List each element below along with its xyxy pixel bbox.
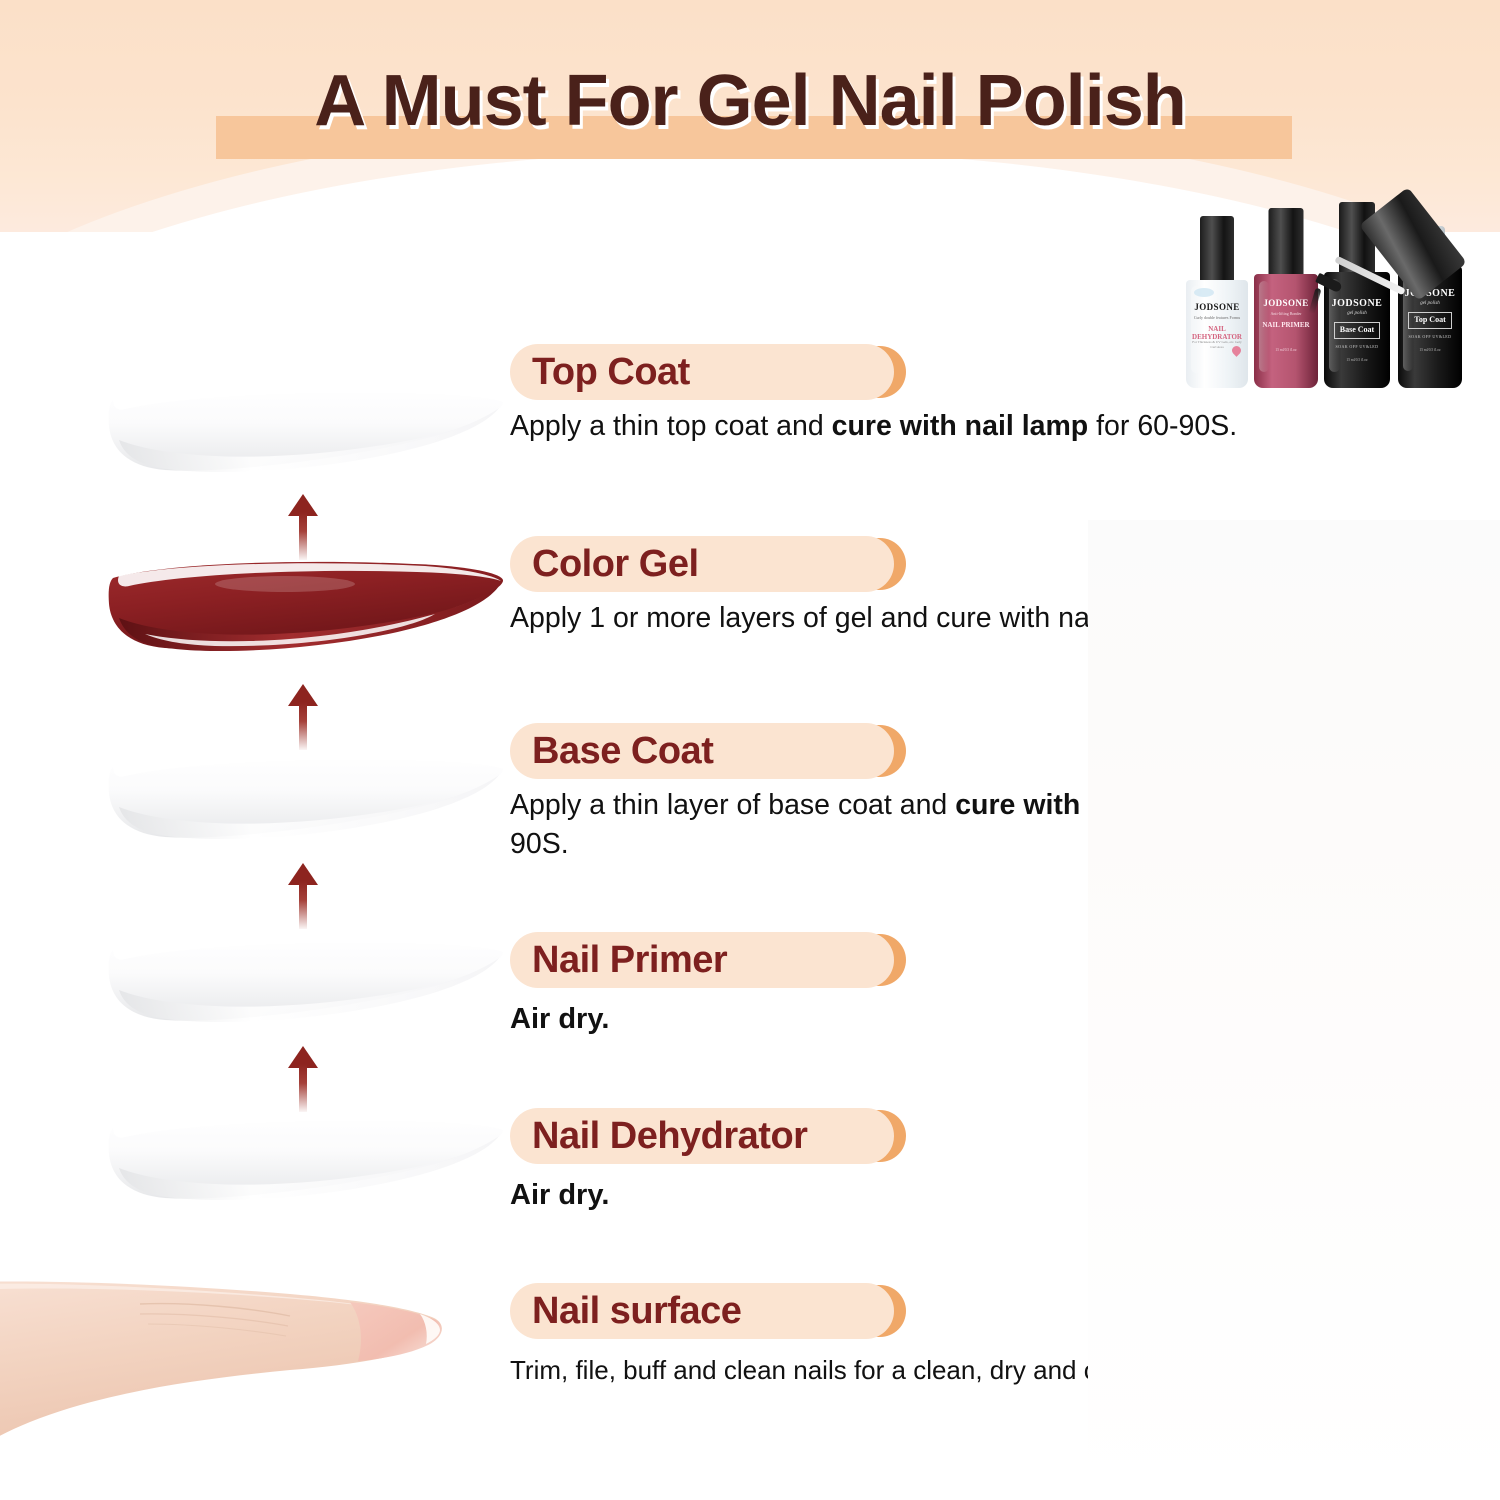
product-bottles-group: JODSONE Curly double features Formu NAIL… bbox=[1186, 196, 1500, 396]
bottle-fine2-3: SOAK OFF UV&LED bbox=[1324, 344, 1390, 349]
desc-part-1: Apply a thin layer of base coat and bbox=[510, 789, 955, 821]
bottle-brand-2: JODSONE bbox=[1254, 298, 1318, 308]
step-label-text: Color Gel bbox=[532, 545, 699, 583]
flower-backdrop bbox=[1088, 520, 1500, 1500]
step-label-text: Nail surface bbox=[532, 1292, 741, 1330]
step-label-text: Base Coat bbox=[532, 732, 713, 770]
bottle-name-2: NAIL PRIMER bbox=[1254, 321, 1318, 329]
step-label-pill-color-gel: Color Gel bbox=[510, 536, 894, 592]
pill-body: Color Gel bbox=[510, 536, 894, 592]
pill-body: Nail Primer bbox=[510, 932, 894, 988]
layer-base-coat bbox=[105, 745, 505, 855]
bottle-sub-3: gel polish bbox=[1324, 311, 1390, 316]
layer-top-coat bbox=[105, 378, 505, 488]
bottle-sub-1: Curly double features Formu bbox=[1186, 315, 1248, 320]
bottle-brand-3: JODSONE bbox=[1324, 298, 1390, 309]
bottle-name-1: NAIL DEHYDRATOR bbox=[1186, 325, 1248, 341]
nail-plate-color-icon bbox=[105, 556, 505, 666]
bottle-name-3: Base Coat bbox=[1324, 325, 1390, 334]
step-label-text: Nail Dehydrator bbox=[532, 1117, 807, 1155]
step-label-text: Nail Primer bbox=[532, 941, 727, 979]
layer-nail-primer bbox=[105, 928, 505, 1038]
nail-plate-clear-icon-4 bbox=[105, 1106, 505, 1216]
bottle-fine2-4: SOAK OFF UV&LED bbox=[1398, 334, 1462, 339]
bottle-nail-primer: JODSONE Anti-lifting Bonder NAIL PRIMER … bbox=[1254, 208, 1318, 388]
page-title: A Must For Gel Nail Polish bbox=[0, 60, 1500, 142]
pill-body: Nail Dehydrator bbox=[510, 1108, 894, 1164]
step-nail-primer: Nail Primer Air dry. bbox=[510, 932, 894, 1039]
arrow-up-icon-2 bbox=[288, 684, 318, 750]
arrow-up-icon-4 bbox=[288, 1046, 318, 1112]
pill-body: Base Coat bbox=[510, 723, 894, 779]
step-label-pill-nail-primer: Nail Primer bbox=[510, 932, 894, 988]
arrow-up-icon-3 bbox=[288, 863, 318, 929]
bottle-name-4: Top Coat bbox=[1398, 315, 1462, 324]
bottle-fine-4: 15 ml/0.5 fl.oz bbox=[1398, 348, 1462, 352]
pill-body: Top Coat bbox=[510, 344, 894, 400]
pill-body: Nail surface bbox=[510, 1283, 894, 1339]
bottle-nail-dehydrator: JODSONE Curly double features Formu NAIL… bbox=[1186, 216, 1248, 388]
step-label-pill-nail-dehydrator: Nail Dehydrator bbox=[510, 1108, 894, 1164]
finger-illustration bbox=[0, 1262, 470, 1500]
step-nail-dehydrator: Nail Dehydrator Air dry. bbox=[510, 1108, 894, 1215]
nail-plate-clear-icon-3 bbox=[105, 928, 505, 1038]
step-label-pill-nail-surface: Nail surface bbox=[510, 1283, 894, 1339]
desc-bold-part: cure with nail lamp bbox=[832, 410, 1089, 442]
bottle-fine-3: 15 ml/0.5 fl.oz bbox=[1324, 358, 1390, 362]
flower-decoration bbox=[1088, 520, 1500, 1500]
step-label-pill-top-coat: Top Coat bbox=[510, 344, 894, 400]
desc-part-1: Apply a thin top coat and bbox=[510, 410, 832, 442]
step-description-nail-dehydrator: Air dry. bbox=[510, 1176, 894, 1215]
step-description-nail-primer: Air dry. bbox=[510, 1000, 894, 1039]
layer-nail-dehydrator bbox=[105, 1106, 505, 1216]
desc-part-2: for 60-90S. bbox=[1088, 410, 1237, 442]
bottle-brand-1: JODSONE bbox=[1186, 302, 1248, 312]
step-label-pill-base-coat: Base Coat bbox=[510, 723, 894, 779]
bottle-fine-2: 15 ml/0.5 fl.oz bbox=[1254, 348, 1318, 352]
step-label-text: Top Coat bbox=[532, 353, 690, 391]
arrow-up-icon-1 bbox=[288, 494, 318, 560]
nail-plate-clear-icon bbox=[105, 378, 505, 488]
infographic-canvas: A Must For Gel Nail Polish bbox=[0, 0, 1500, 1500]
step-description-top-coat: Apply a thin top coat and cure with nail… bbox=[510, 407, 1237, 446]
layer-color-gel bbox=[105, 556, 505, 666]
nail-plate-clear-icon-2 bbox=[105, 745, 505, 855]
bottle-sub-4: gel polish bbox=[1398, 301, 1462, 306]
step-top-coat: Top Coat Apply a thin top coat and cure … bbox=[510, 344, 1237, 446]
